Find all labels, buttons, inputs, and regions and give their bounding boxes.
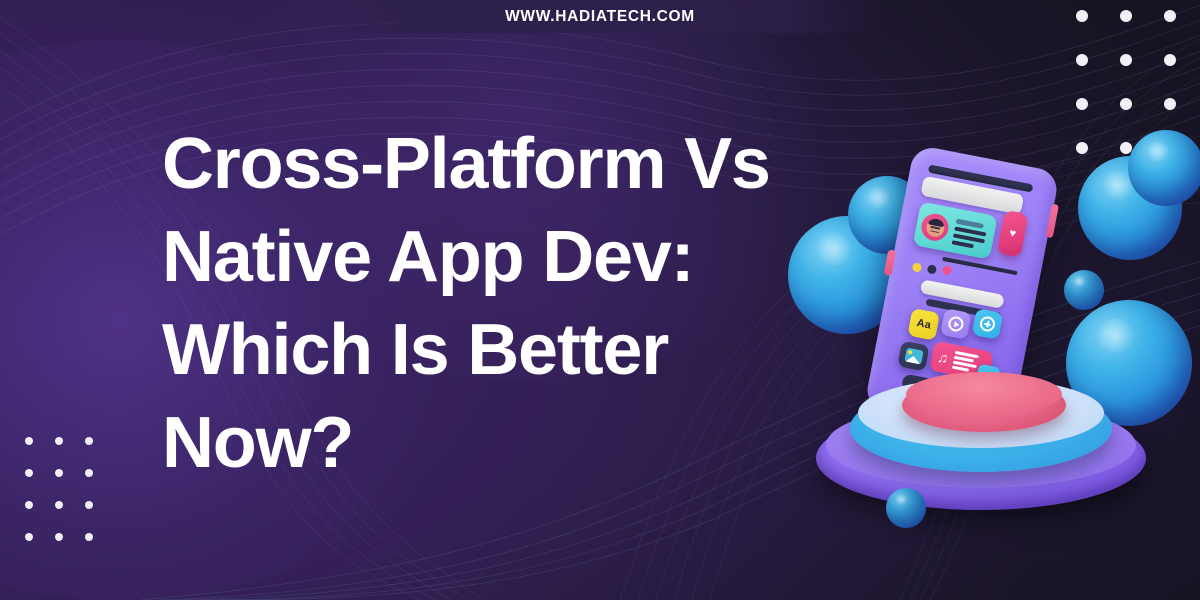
decorative-dot bbox=[1164, 54, 1176, 66]
status-dot bbox=[942, 265, 953, 276]
decorative-dot bbox=[25, 501, 33, 509]
avatar bbox=[919, 211, 951, 243]
card-text-line bbox=[952, 240, 974, 248]
decorative-dot bbox=[55, 437, 63, 445]
decorative-sphere bbox=[1128, 130, 1200, 206]
decorative-dot bbox=[55, 533, 63, 541]
status-dot bbox=[927, 264, 938, 275]
dot-grid-bottom-left bbox=[14, 425, 104, 553]
decorative-dot bbox=[85, 469, 93, 477]
play-icon[interactable] bbox=[940, 308, 972, 340]
favorite-panel[interactable]: ♥ bbox=[997, 210, 1029, 258]
page-title-line-1: Cross-Platform Vs bbox=[162, 118, 862, 211]
decorative-sphere bbox=[886, 488, 926, 528]
text-tool-label: Aa bbox=[916, 317, 932, 331]
heart-icon: ♥ bbox=[1008, 228, 1017, 240]
status-dot bbox=[912, 262, 923, 273]
decorative-dot bbox=[25, 469, 33, 477]
site-url-bar: WWW.HADIATECH.COM bbox=[0, 0, 1200, 33]
decorative-dot bbox=[25, 533, 33, 541]
decorative-sphere bbox=[1064, 270, 1104, 310]
decorative-dot bbox=[1120, 54, 1132, 66]
music-note-icon: ♫ bbox=[937, 350, 950, 366]
blog-banner: WWW.HADIATECH.COM Cross-Platform Vs Nati… bbox=[0, 0, 1200, 600]
decorative-dot bbox=[85, 533, 93, 541]
image-frame bbox=[904, 347, 923, 364]
plus-circle bbox=[979, 315, 997, 333]
decorative-dot bbox=[85, 437, 93, 445]
podium-tier-top-face bbox=[906, 372, 1062, 416]
decorative-dot bbox=[25, 437, 33, 445]
plus-icon[interactable] bbox=[972, 308, 1004, 340]
site-url-text: WWW.HADIATECH.COM bbox=[505, 8, 695, 26]
avatar-face-icon bbox=[924, 217, 945, 238]
profile-card[interactable] bbox=[913, 202, 998, 260]
decorative-dot bbox=[1120, 98, 1132, 110]
page-title-line-2: Native App Dev: bbox=[162, 211, 862, 304]
podium bbox=[816, 372, 1146, 512]
page-title-line-3: Which Is Better bbox=[162, 304, 862, 397]
playlist-lines-icon bbox=[951, 351, 978, 373]
page-title: Cross-Platform Vs Native App Dev: Which … bbox=[162, 118, 862, 490]
play-circle bbox=[947, 315, 965, 333]
decorative-dot bbox=[85, 501, 93, 509]
decorative-dot bbox=[1076, 98, 1088, 110]
decorative-dot bbox=[1164, 98, 1176, 110]
decorative-dot bbox=[1076, 54, 1088, 66]
text-tool-icon[interactable]: Aa bbox=[907, 308, 940, 341]
decorative-dot bbox=[55, 469, 63, 477]
decorative-dot bbox=[55, 501, 63, 509]
image-icon[interactable] bbox=[897, 341, 929, 372]
page-title-line-4: Now? bbox=[162, 397, 862, 490]
screen-bar bbox=[942, 257, 1017, 275]
